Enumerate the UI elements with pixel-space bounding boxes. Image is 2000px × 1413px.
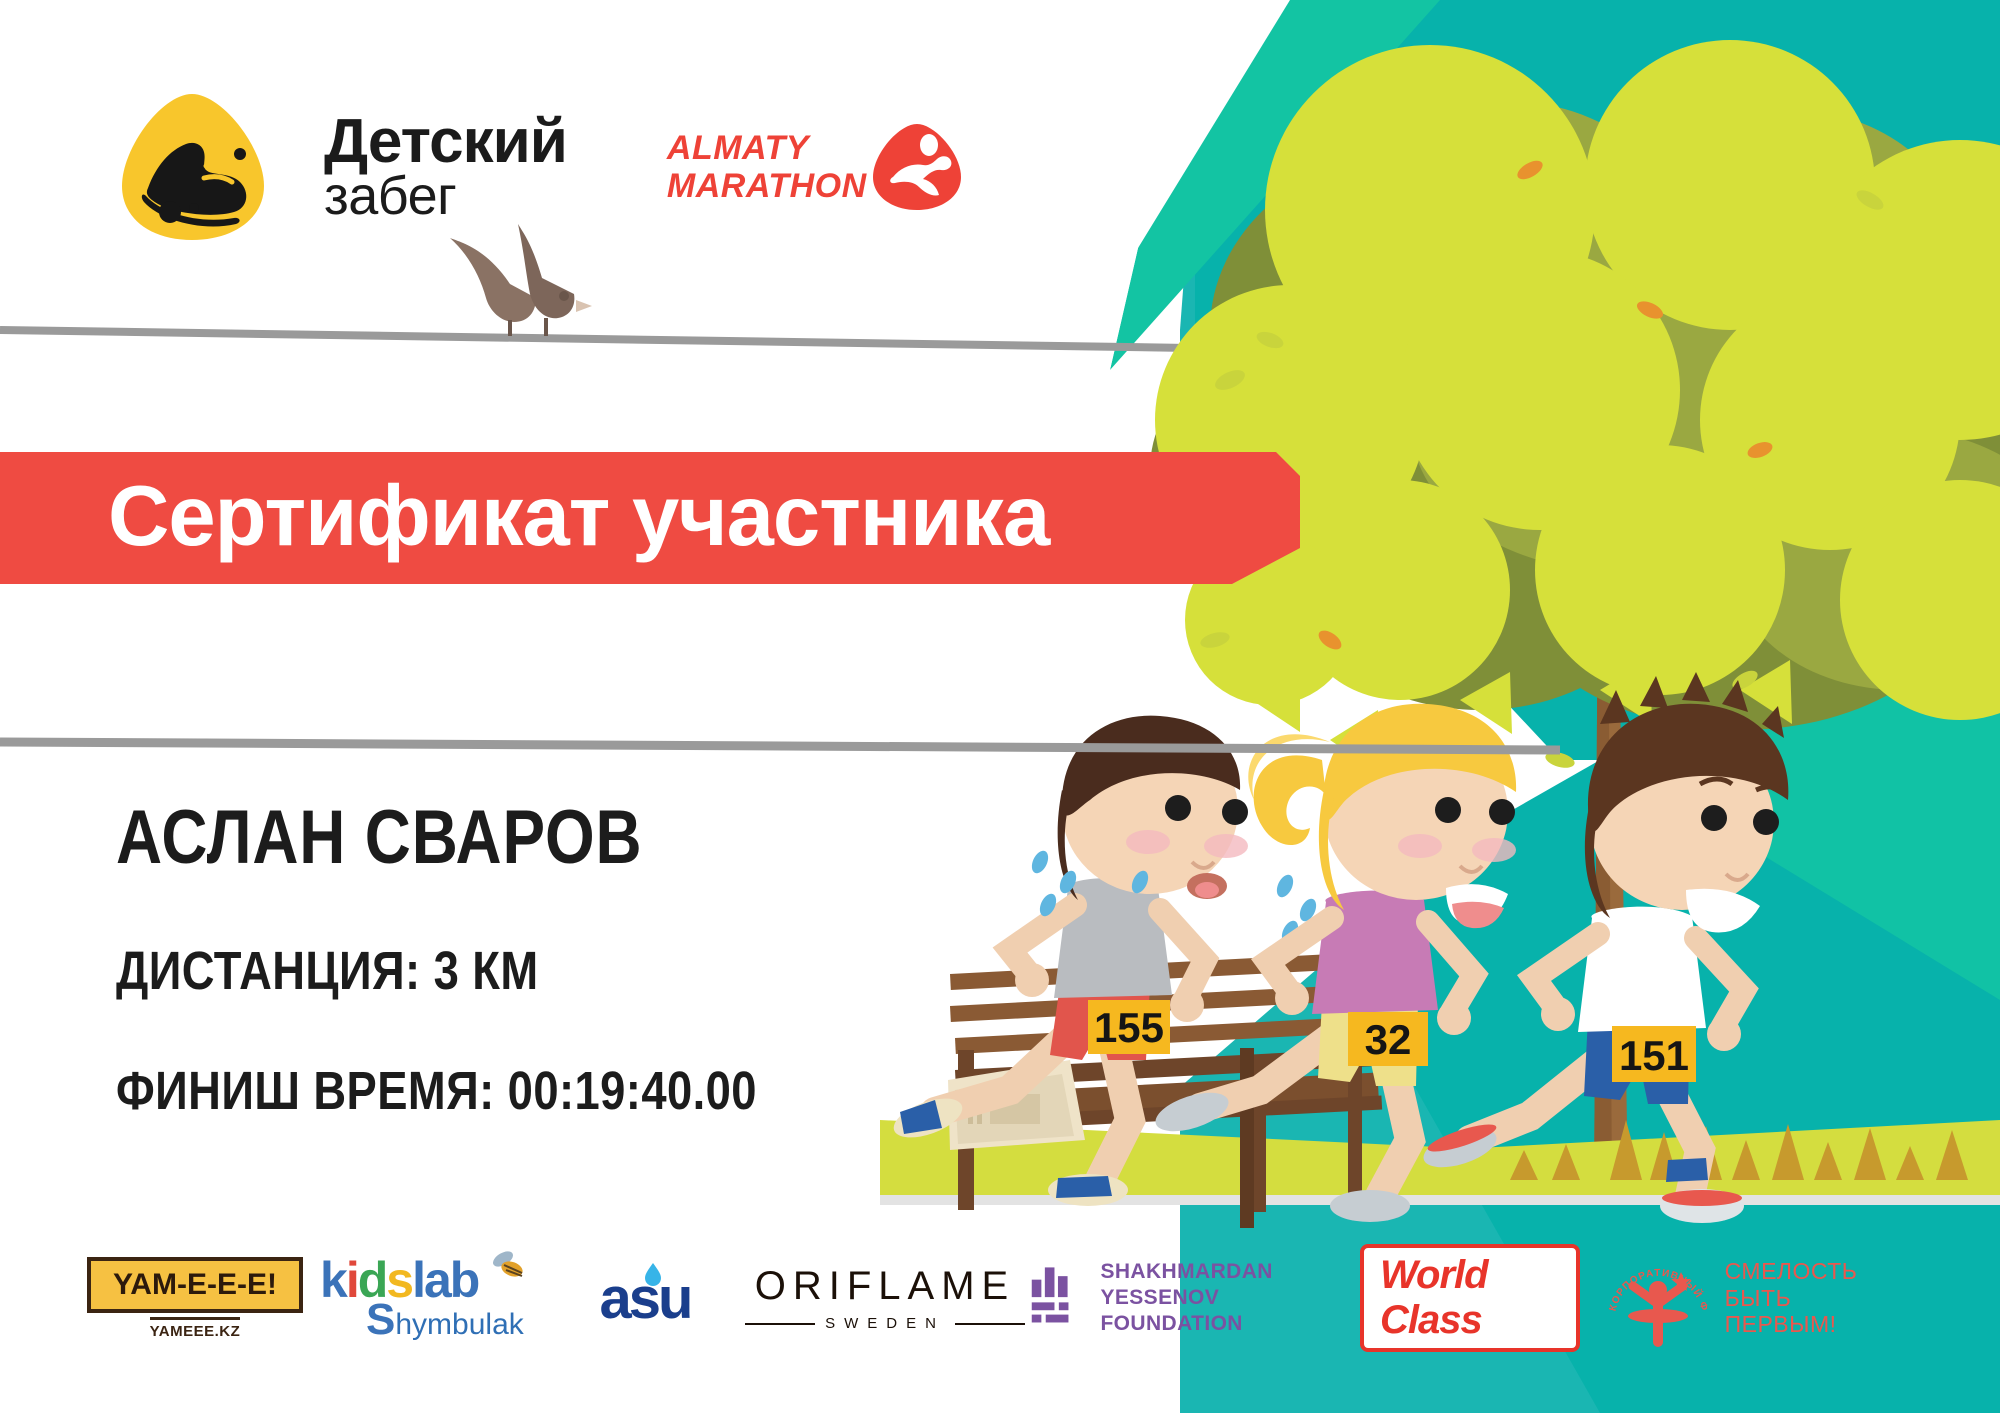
participant-name: АСЛАН СВАРОВ [116,800,757,876]
brand-wordmark: Детский забег [324,113,567,221]
brand-line-1: Детский [324,113,567,171]
svg-text:155: 155 [1094,1004,1164,1051]
smelost-label: СМЕЛОСТЬ БЫТЬ ПЕРВЫМ! [1725,1258,1858,1338]
world-class-label: World Class [1360,1244,1580,1352]
ground-line [880,1195,2000,1205]
certificate-page: 155 [0,0,2000,1413]
yessenov-mark-icon [1030,1261,1082,1335]
oriflame-sublabel: SWEDEN [745,1315,1025,1332]
detskiy-zabeg-logo [118,92,266,242]
almaty-line: ALMATY [667,129,867,167]
oriflame-label: ORIFLAME [755,1264,1015,1309]
yessenov-line-2: FOUNDATION [1100,1311,1360,1337]
kidslab-i: i [346,1252,358,1308]
svg-text:151: 151 [1619,1032,1689,1079]
yessenov-label: SHAKHMARDAN YESSENOV FOUNDATION [1100,1259,1360,1338]
running-shoe-icon [118,92,266,242]
sponsor-yessenov-foundation[interactable]: SHAKHMARDAN YESSENOV FOUNDATION [1030,1243,1360,1353]
sponsor-kidslab[interactable]: kidslab Shymbulak [320,1243,550,1353]
running-person-icon [871,121,963,213]
smelost-mark-icon: КОРПОРАТИВНЫЙ ФОНД [1603,1246,1713,1350]
asu-droplet-icon [640,1261,666,1287]
kidslab-shymbulak: hymbulak [395,1308,523,1341]
sponsor-oriflame[interactable]: ORIFLAME SWEDEN [740,1243,1030,1353]
sponsor-logo-strip: YAM-E-E-E! YAMEEE.KZ kidslab Shymbulak a… [0,1238,2000,1358]
participant-details: АСЛАН СВАРОВ ДИСТАНЦИЯ: 3 КМ ФИНИШ ВРЕМЯ… [116,800,879,1118]
kidslab-sublabel: Shymbulak [366,1295,524,1345]
oriflame-rule-left [745,1323,815,1325]
yameee-sublabel: YAMEEE.KZ [150,1317,241,1340]
sponsor-smelost-byt-pervym[interactable]: КОРПОРАТИВНЫЙ ФОНД СМЕЛОСТЬ БЫТЬ ПЕРВЫМ! [1580,1243,1880,1353]
smelost-line-3: ПЕРВЫМ! [1725,1311,1858,1338]
smelost-line-1: СМЕЛОСТЬ [1725,1258,1858,1285]
sponsor-asu[interactable]: asu [550,1243,740,1353]
almaty-marathon-logo: ALMATY MARATHON [667,121,963,213]
marathon-line: MARATHON [667,167,867,205]
smelost-line-2: БЫТЬ [1725,1285,1858,1312]
brand-header: Детский забег ALMATY MARATHON [118,92,963,242]
kidslab-k: k [320,1252,346,1308]
oriflame-rule-right [955,1323,1025,1325]
oriflame-sweden-text: SWEDEN [825,1315,945,1332]
bee-icon [490,1251,524,1281]
certificate-title: Сертификат участника [108,468,1049,566]
yameee-label: YAM-E-E-E! [87,1257,303,1313]
svg-text:32: 32 [1365,1016,1412,1063]
yessenov-line-1: SHAKHMARDAN YESSENOV [1100,1259,1360,1312]
brand-line-2: забег [324,171,567,221]
almaty-marathon-wordmark: ALMATY MARATHON [667,129,867,205]
finish-time-line: ФИНИШ ВРЕМЯ: 00:19:40.00 [116,1064,757,1118]
asu-label: asu [600,1265,691,1332]
distance-line: ДИСТАНЦИЯ: 3 КМ [116,944,757,998]
sponsor-yameee[interactable]: YAM-E-E-E! YAMEEE.KZ [80,1243,310,1353]
sponsor-world-class[interactable]: World Class [1360,1243,1580,1353]
